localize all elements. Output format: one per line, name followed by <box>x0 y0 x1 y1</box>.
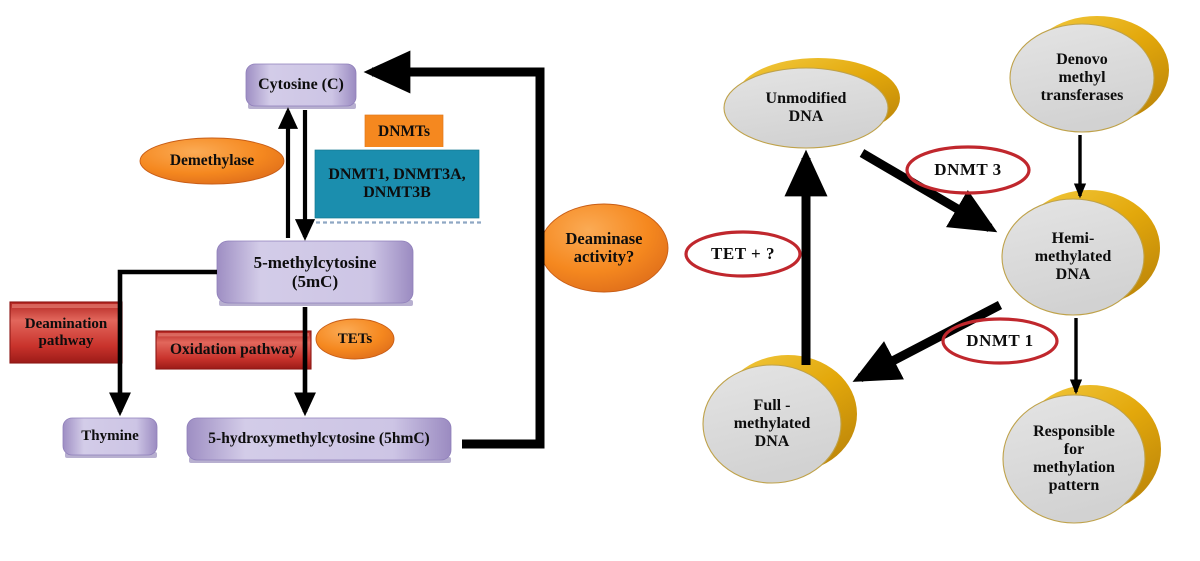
deaminase-label-line1: Deaminase <box>540 230 668 248</box>
oxidation-pathway-label: Oxidation pathway <box>156 341 311 358</box>
deamination-pathway-line2: pathway <box>10 333 122 350</box>
denovo-line1: Denovo <box>1012 51 1152 69</box>
cytosine-label: Cytosine (C) <box>246 76 356 94</box>
dnmts-header-label: DNMTs <box>365 123 443 140</box>
full-line3: DNA <box>702 433 842 451</box>
hydroxymethylcytosine-box[interactable]: 5-hydroxymethylcytosine (5hmC) <box>187 418 451 460</box>
dnmt3-callout[interactable]: DNMT 3 <box>907 148 1029 192</box>
hemi-methylated-dna-ellipse[interactable]: Hemi- methylated DNA <box>1003 215 1143 299</box>
unmodified-dna-line1: Unmodified <box>736 90 876 108</box>
cytosine-box[interactable]: Cytosine (C) <box>246 64 356 106</box>
denovo-line2: methyl <box>1012 69 1152 87</box>
dnmts-body-line2: DNMT3B <box>315 184 479 202</box>
tet-plus-callout[interactable]: TET + ? <box>686 232 800 276</box>
thymine-box[interactable]: Thymine <box>63 418 157 455</box>
deamination-pathway-box[interactable]: Deamination pathway <box>10 302 122 363</box>
dnmt1-label: DNMT 1 <box>943 331 1057 350</box>
tets-ellipse[interactable]: TETs <box>316 319 394 359</box>
deaminase-label-line2: activity? <box>540 248 668 266</box>
demethylase-label: Demethylase <box>140 152 284 169</box>
denovo-transferases-ellipse[interactable]: Denovo methyl transferases <box>1012 36 1152 120</box>
tet-plus-label: TET + ? <box>686 244 800 263</box>
unmodified-dna-ellipse[interactable]: Unmodified DNA <box>736 84 876 132</box>
methylcytosine-box[interactable]: 5-methylcytosine (5mC) <box>217 241 413 303</box>
dnmts-body-line1: DNMT1, DNMT3A, <box>315 166 479 184</box>
dnmts-body-box[interactable]: DNMT1, DNMT3A, DNMT3B <box>315 150 479 218</box>
methylcytosine-label-line2: (5mC) <box>217 272 413 291</box>
responsible-line1: Responsible <box>1004 423 1144 441</box>
figure-canvas: Cytosine (C) 5-methylcytosine (5mC) Thym… <box>0 0 1200 561</box>
full-methylated-dna-ellipse[interactable]: Full - methylated DNA <box>702 382 842 466</box>
dnmt1-callout[interactable]: DNMT 1 <box>943 319 1057 363</box>
oxidation-pathway-box[interactable]: Oxidation pathway <box>156 331 311 369</box>
deaminase-ellipse[interactable]: Deaminase activity? <box>540 204 668 292</box>
thymine-label: Thymine <box>63 428 157 445</box>
full-line2: methylated <box>702 415 842 433</box>
demethylase-ellipse[interactable]: Demethylase <box>140 138 284 184</box>
hemi-line2: methylated <box>1003 248 1143 266</box>
denovo-line3: transferases <box>1012 87 1152 105</box>
responsible-line3: methylation <box>1004 459 1144 477</box>
hemi-line3: DNA <box>1003 266 1143 284</box>
hemi-line1: Hemi- <box>1003 230 1143 248</box>
full-line1: Full - <box>702 397 842 415</box>
tets-label: TETs <box>316 331 394 348</box>
unmodified-dna-line2: DNA <box>736 108 876 126</box>
responsible-line4: pattern <box>1004 477 1144 495</box>
dnmt3-label: DNMT 3 <box>907 160 1029 179</box>
responsible-pattern-ellipse[interactable]: Responsible for methylation pattern <box>1004 404 1144 514</box>
responsible-line2: for <box>1004 441 1144 459</box>
dnmts-header-box[interactable]: DNMTs <box>365 115 443 149</box>
hydroxymethylcytosine-label: 5-hydroxymethylcytosine (5hmC) <box>187 430 451 447</box>
deamination-pathway-line1: Deamination <box>10 316 122 333</box>
methylcytosine-label-line1: 5-methylcytosine <box>217 253 413 272</box>
